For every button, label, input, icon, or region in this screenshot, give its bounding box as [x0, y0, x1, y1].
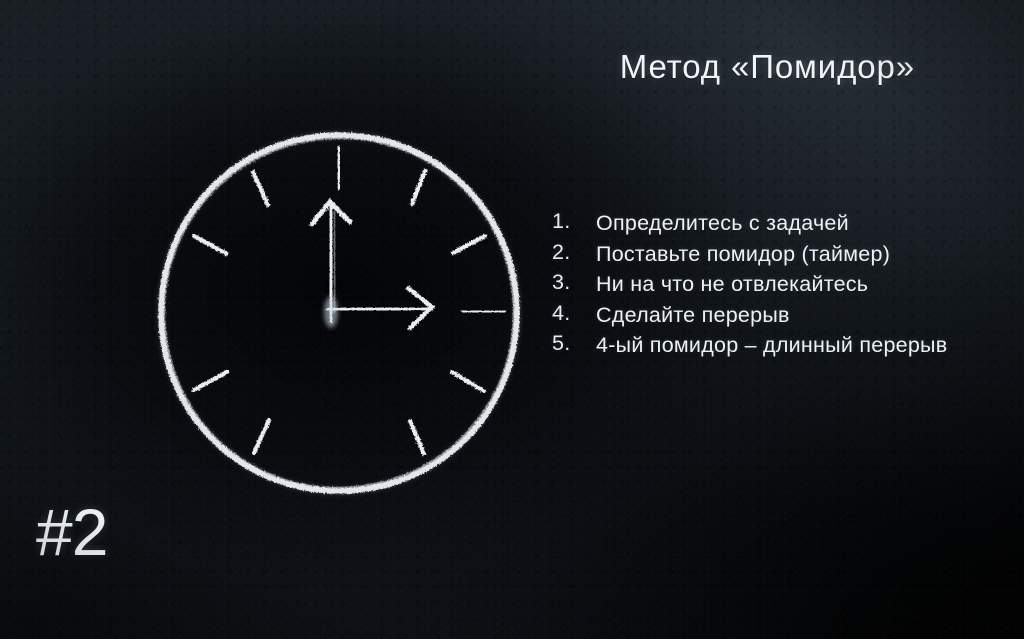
list-item: 2. Поставьте помидор (таймер) [552, 240, 972, 269]
clock-hour-hand [328, 288, 432, 328]
slide-canvas: Метод «Помидор» 1. Определитесь с задаче… [0, 0, 1024, 639]
list-item-label: Ни на что не отвлекайтесь [596, 270, 972, 299]
list-item: 5. 4-ый помидор – длинный перерыв [552, 331, 972, 360]
instruction-list: 1. Определитесь с задачей 2. Поставьте п… [552, 209, 972, 362]
list-item: 1. Определитесь с задачей [552, 209, 972, 238]
clock-hour-ticks [174, 148, 504, 477]
list-item-number: 2. [552, 240, 596, 265]
list-item-label: Сделайте перерыв [596, 301, 972, 330]
slide-number: #2 [36, 494, 107, 570]
page-title: Метод «Помидор» [430, 48, 915, 86]
list-item-number: 4. [552, 301, 596, 326]
list-item-number: 5. [552, 331, 596, 356]
list-item-number: 3. [552, 270, 596, 295]
list-item: 4. Сделайте перерыв [552, 301, 972, 330]
clock-center-smudge [324, 296, 338, 328]
list-item-label: Определитесь с задачей [596, 209, 972, 238]
list-item: 3. Ни на что не отвлекайтесь [552, 270, 972, 299]
list-item-label: 4-ый помидор – длинный перерыв [596, 331, 972, 360]
list-item-label: Поставьте помидор (таймер) [596, 240, 972, 269]
chalk-clock-drawing [142, 112, 542, 512]
list-item-number: 1. [552, 209, 596, 234]
